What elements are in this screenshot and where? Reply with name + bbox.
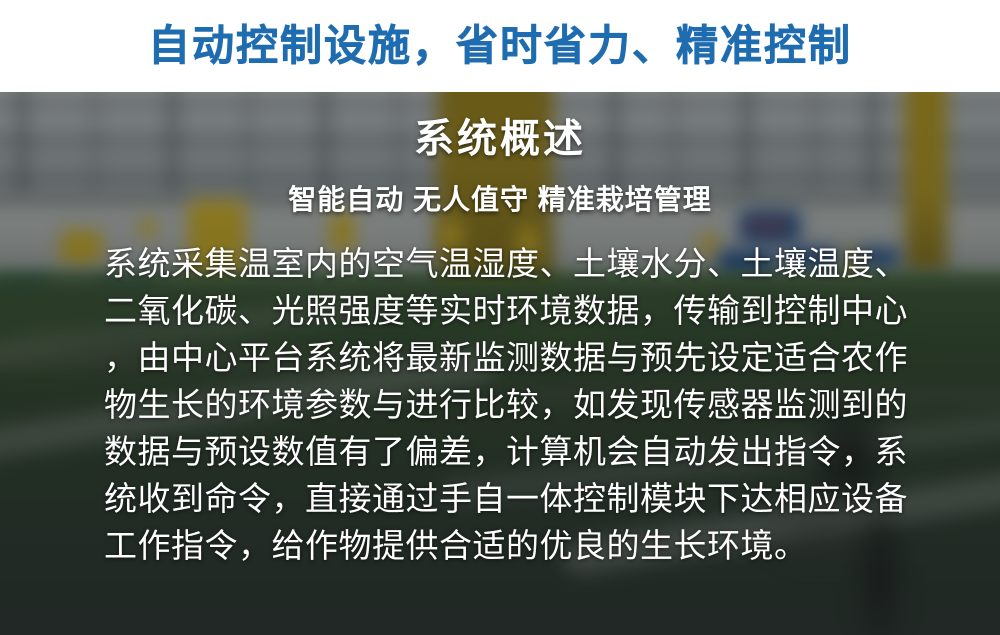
body-line: 二氧化碳、光照强度等实时环境数据，传输到控制中心 — [104, 287, 894, 334]
promo-page: 自动控制设施，省时省力、精准控制 — [0, 0, 1000, 635]
body-line: 统收到命令，直接通过手自一体控制模块下达相应设备 — [104, 475, 894, 522]
hero-copy: 系统概述 智能自动 无人值守 精准栽培管理 系统采集温室内的空气温湿度、土壤水分… — [0, 92, 1000, 635]
body-line: 系统采集温室内的空气温湿度、土壤水分、土壤温度、 — [104, 240, 894, 287]
body-line: 数据与预设数值有了偏差，计算机会自动发出指令，系 — [104, 428, 894, 475]
body-line: 物生长的环境参数与进行比较，如发现传感器监测到的 — [104, 381, 894, 428]
body-line: 工作指令，给作物提供合适的优良的生长环境。 — [104, 522, 894, 569]
banner-headline: 自动控制设施，省时省力、精准控制 — [148, 25, 852, 67]
top-banner: 自动控制设施，省时省力、精准控制 — [0, 0, 1000, 92]
hero-section: 系统概述 智能自动 无人值守 精准栽培管理 系统采集温室内的空气温湿度、土壤水分… — [0, 92, 1000, 635]
hero-title: 系统概述 — [0, 119, 1000, 159]
body-line: ，由中心平台系统将最新监测数据与预先设定适合农作 — [104, 334, 894, 381]
hero-body-paragraph: 系统采集温室内的空气温湿度、土壤水分、土壤温度、 二氧化碳、光照强度等实时环境数… — [104, 240, 894, 569]
hero-subtitle: 智能自动 无人值守 精准栽培管理 — [0, 186, 1000, 214]
